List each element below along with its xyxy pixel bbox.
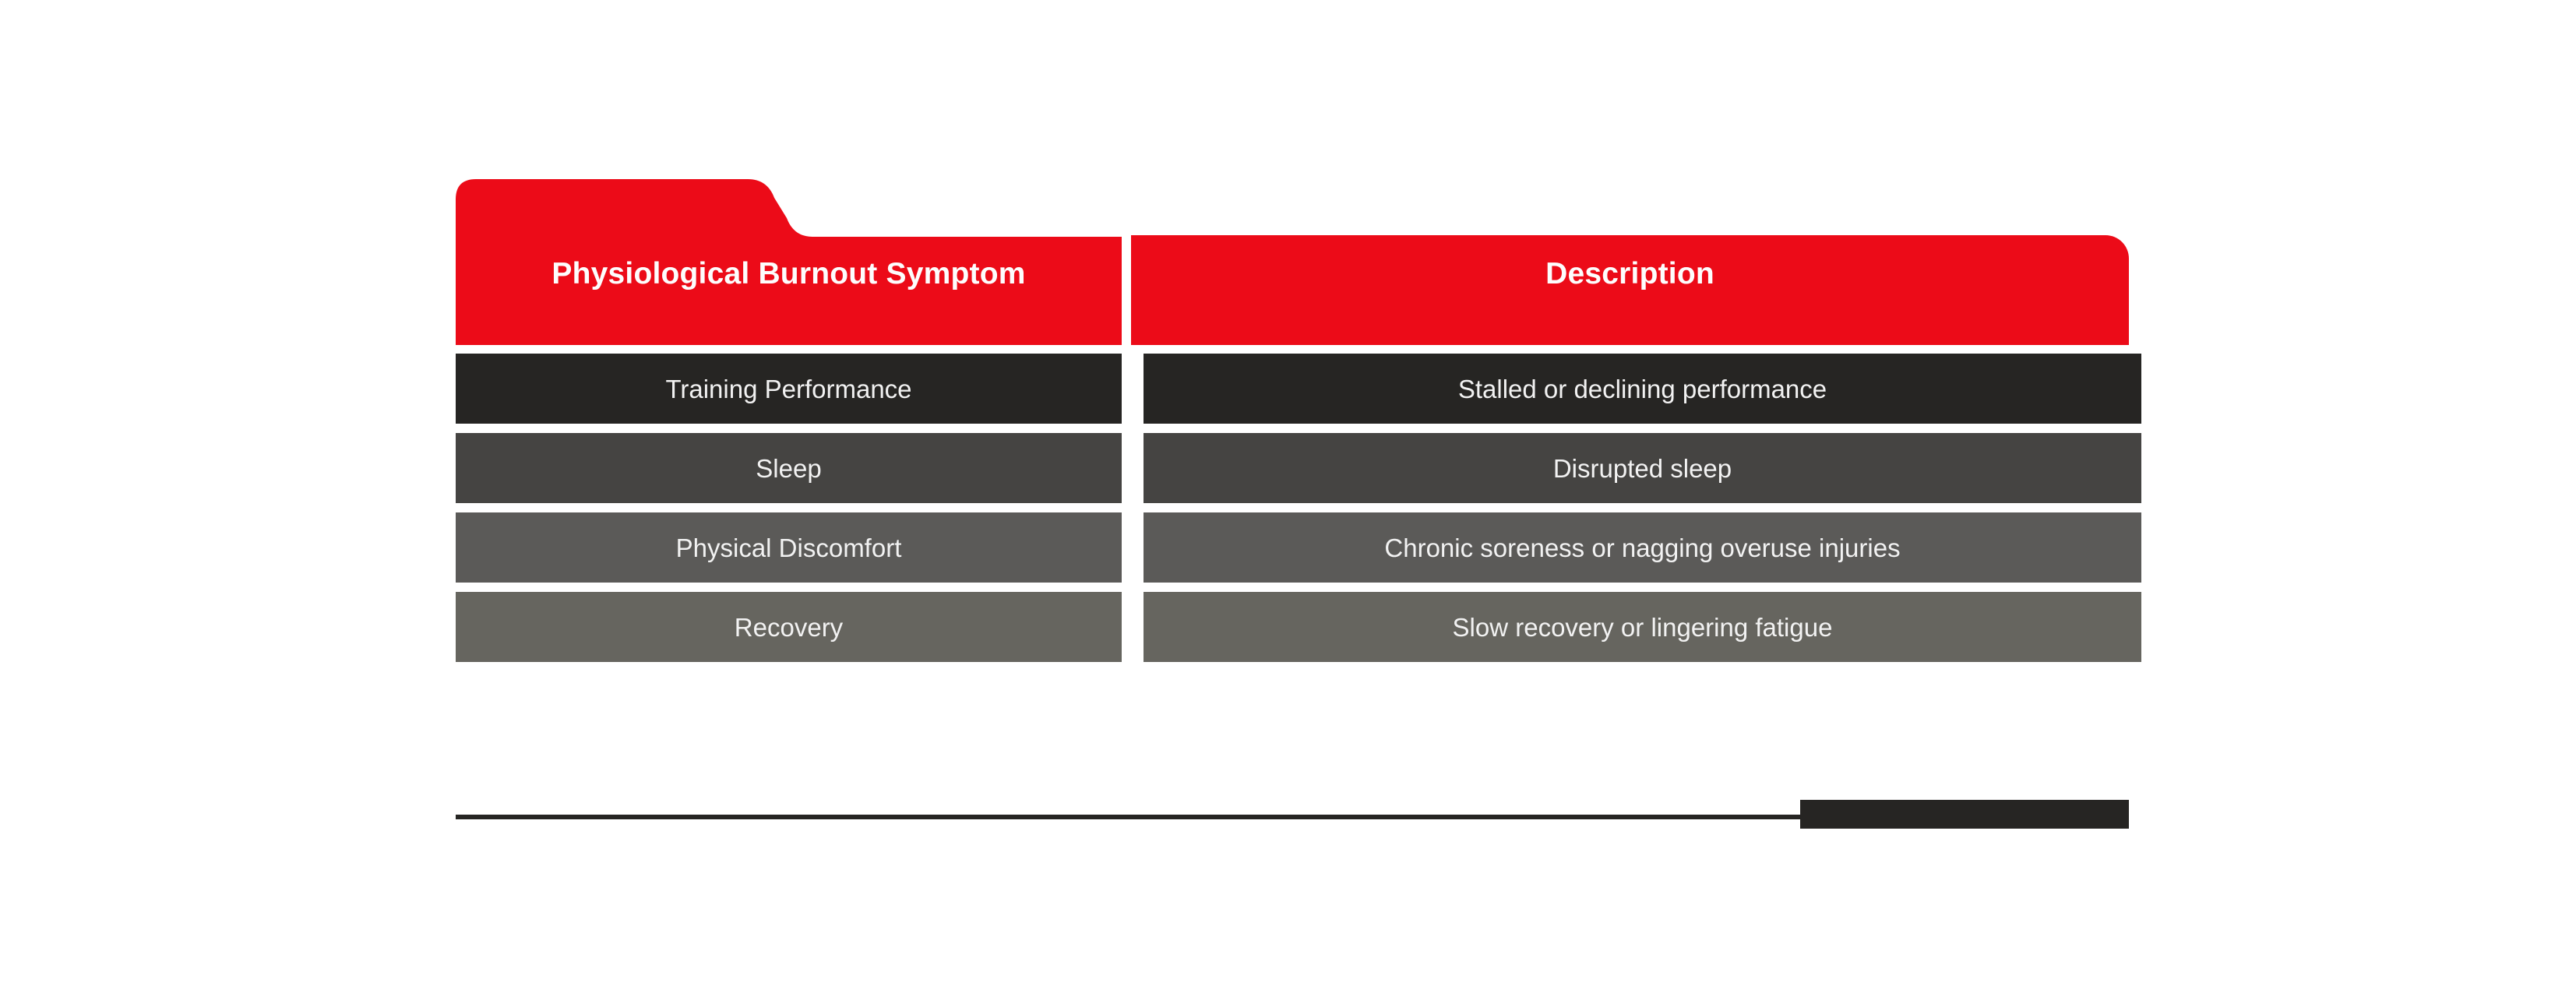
- burnout-symptom-table: Physiological Burnout Symptom Descriptio…: [456, 178, 2129, 662]
- column-header-description: Description: [1131, 178, 2129, 345]
- footer-end-cap: [1800, 800, 2129, 829]
- column-gap: [1122, 433, 1144, 503]
- column-gap: [1122, 592, 1144, 662]
- column-header-symptom-label: Physiological Burnout Symptom: [456, 259, 1122, 289]
- table-canvas: Physiological Burnout Symptom Descriptio…: [0, 0, 2576, 1000]
- column-gap: [1122, 354, 1144, 424]
- table-row: Physical Discomfort Chronic soreness or …: [456, 512, 2129, 583]
- column-header-symptom: Physiological Burnout Symptom: [456, 178, 1122, 345]
- table-row: Recovery Slow recovery or lingering fati…: [456, 592, 2129, 662]
- table-row: Sleep Disrupted sleep: [456, 433, 2129, 503]
- cell-description: Disrupted sleep: [1144, 433, 2141, 503]
- column-header-description-label: Description: [1131, 259, 2129, 289]
- cell-symptom: Sleep: [456, 433, 1122, 503]
- cell-symptom: Training Performance: [456, 354, 1122, 424]
- table-header-row: Physiological Burnout Symptom Descriptio…: [456, 178, 2129, 345]
- column-gap: [1122, 512, 1144, 583]
- cell-symptom: Recovery: [456, 592, 1122, 662]
- table-body: Training Performance Stalled or declinin…: [456, 354, 2129, 662]
- cell-description: Slow recovery or lingering fatigue: [1144, 592, 2141, 662]
- table-row: Training Performance Stalled or declinin…: [456, 354, 2129, 424]
- cell-description: Chronic soreness or nagging overuse inju…: [1144, 512, 2141, 583]
- cell-symptom: Physical Discomfort: [456, 512, 1122, 583]
- cell-description: Stalled or declining performance: [1144, 354, 2141, 424]
